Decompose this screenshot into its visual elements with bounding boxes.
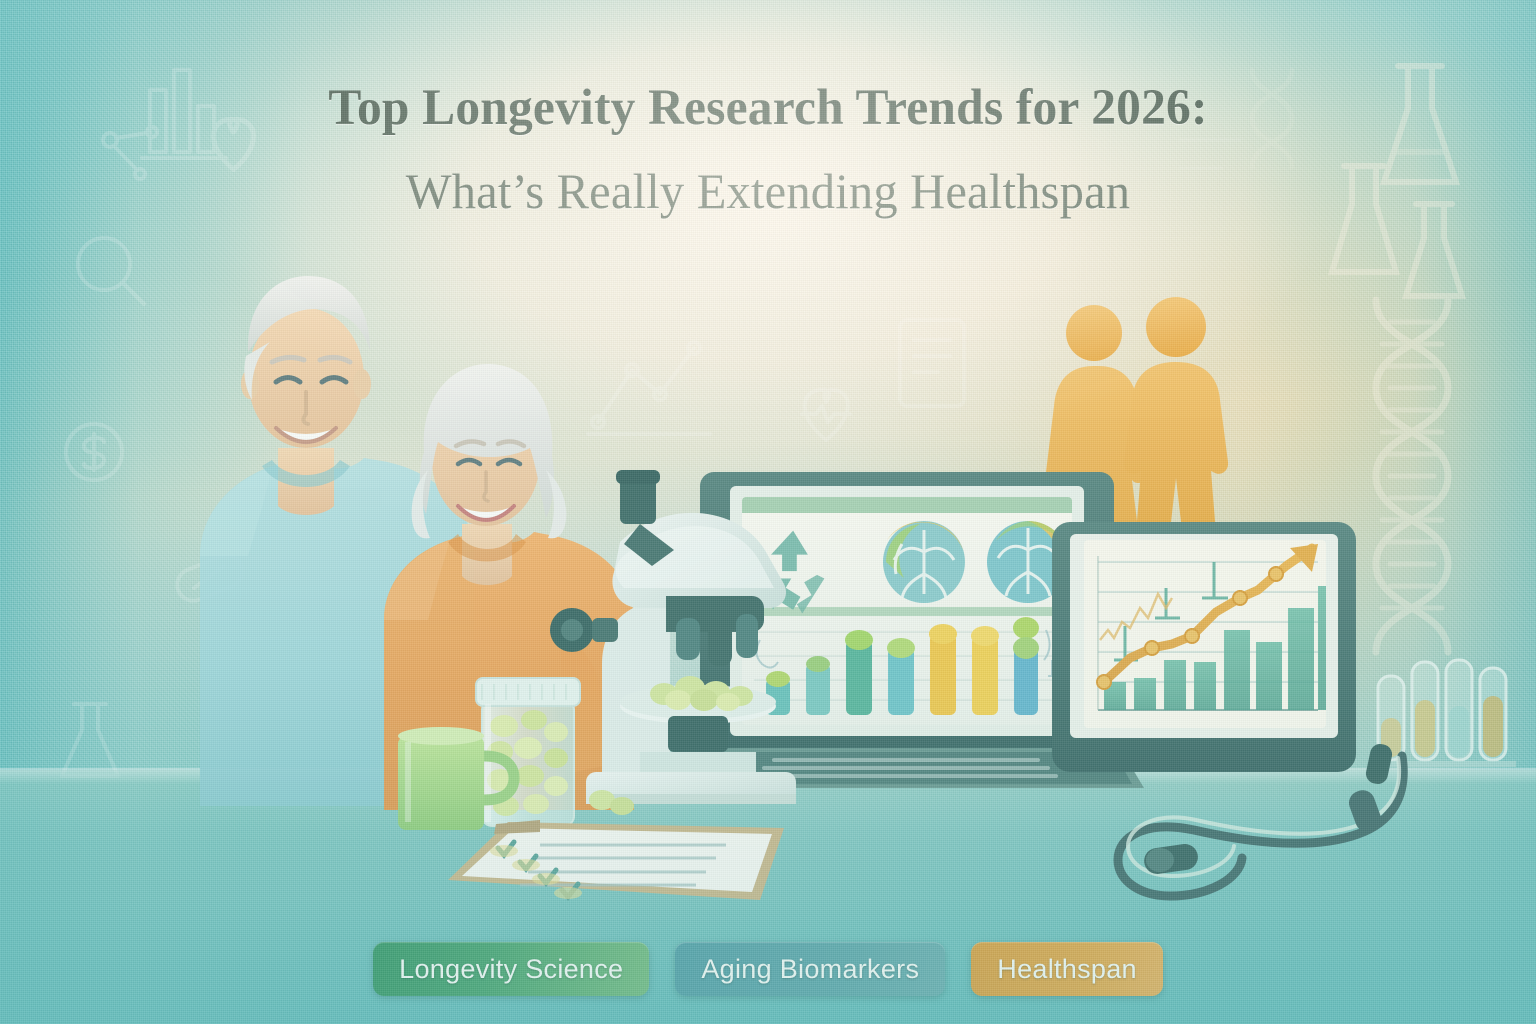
badge-label: Healthspan xyxy=(997,954,1137,985)
loose-capsule-2 xyxy=(610,797,634,815)
bar-4 xyxy=(887,638,915,715)
bar-6 xyxy=(971,626,999,715)
badge-longevity-science[interactable]: Longevity Science xyxy=(373,942,649,996)
headline-block: Top Longevity Research Trends for 2026: … xyxy=(0,78,1536,221)
badge-label: Longevity Science xyxy=(399,954,623,985)
test-tube-rack xyxy=(1368,660,1516,764)
bar-5 xyxy=(929,624,957,715)
badge-healthspan[interactable]: Healthspan xyxy=(971,942,1163,996)
badge-aging-biomarkers[interactable]: Aging Biomarkers xyxy=(675,942,945,996)
bar-3 xyxy=(845,630,873,715)
badge-label: Aging Biomarkers xyxy=(701,954,919,985)
page-subtitle: What’s Really Extending Healthspan xyxy=(139,162,1396,221)
topic-badges: Longevity Science Aging Biomarkers Healt… xyxy=(0,942,1536,996)
page-title: Top Longevity Research Trends for 2026: xyxy=(139,78,1396,138)
brain-icon-1 xyxy=(883,521,965,603)
clipboard-checklist xyxy=(448,820,784,900)
pictogram-male xyxy=(1124,297,1228,532)
bar-7 xyxy=(1013,617,1039,715)
bar-2 xyxy=(806,656,830,715)
poster-canvas: Top Longevity Research Trends for 2026: … xyxy=(0,0,1536,1024)
tablet xyxy=(1052,522,1356,772)
